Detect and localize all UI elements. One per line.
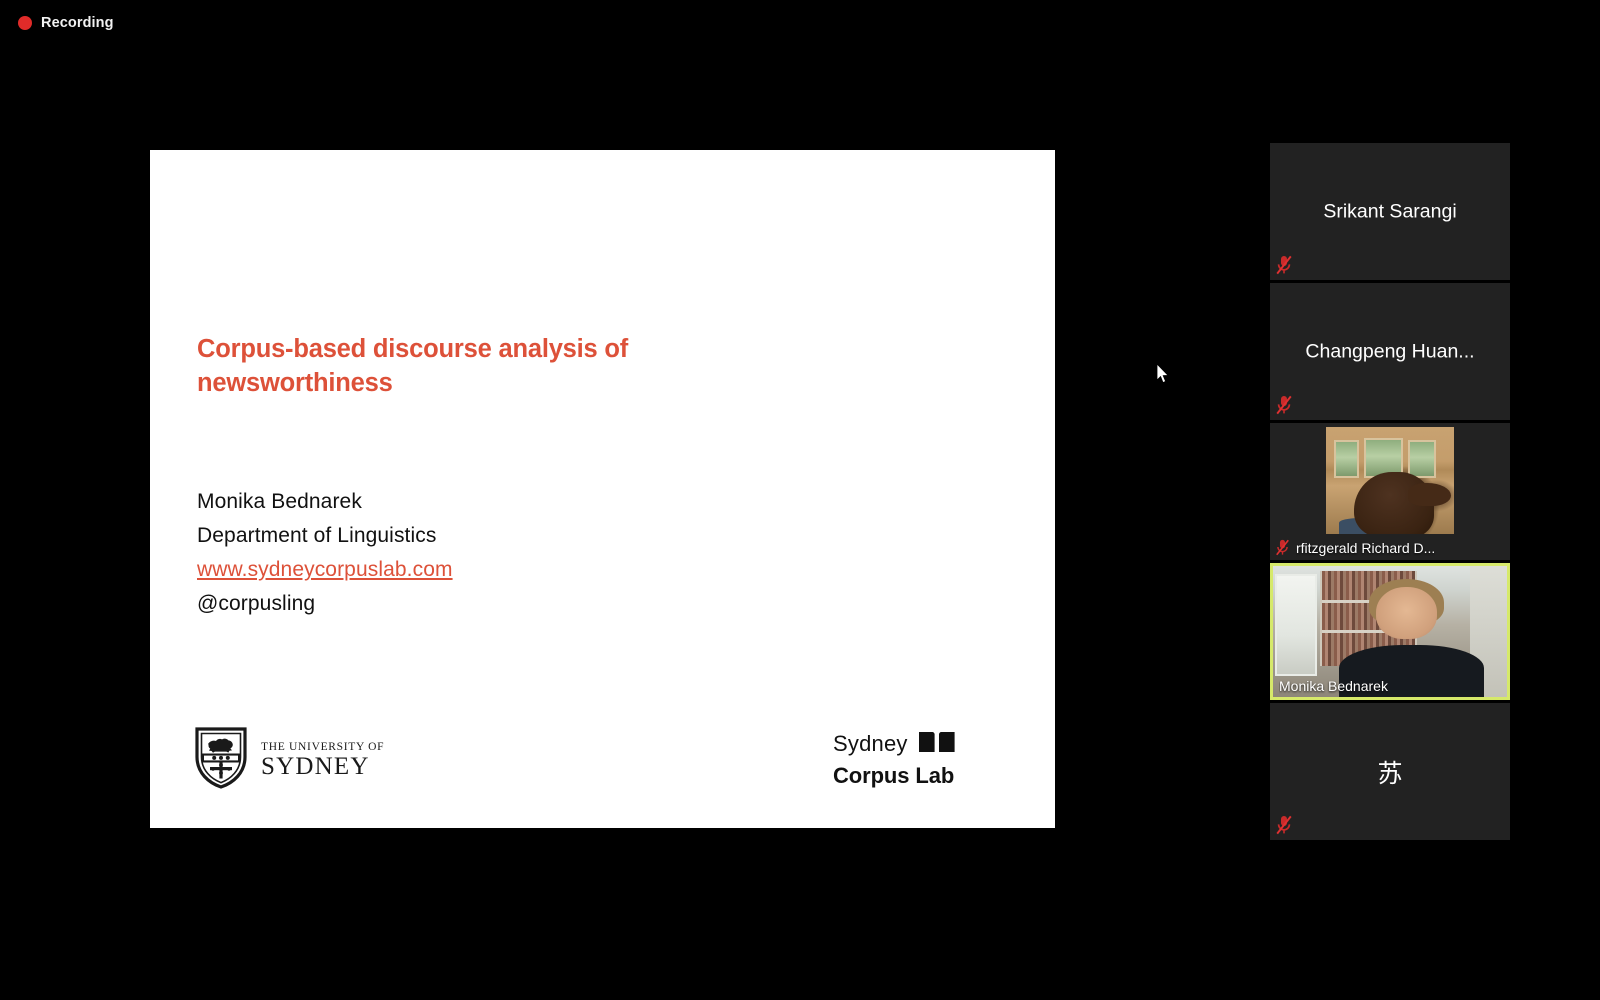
shared-screen-slide[interactable]: Corpus-based discourse analysis of newsw… — [150, 150, 1055, 828]
sydney-corpus-lab-logo: Sydney Corpus Lab — [833, 729, 956, 790]
window-pane — [1334, 440, 1360, 479]
participant-video — [1326, 427, 1454, 534]
byline-website-link[interactable]: www.sydneycorpuslab.com — [197, 553, 717, 587]
participant-footer: Monika Bednarek — [1273, 676, 1507, 697]
participant-name: 苏 — [1270, 754, 1510, 790]
byline-name: Monika Bednarek — [197, 485, 717, 519]
participant-tile[interactable]: Srikant Sarangi — [1270, 143, 1510, 280]
byline-handle: @corpusling — [197, 587, 717, 621]
mic-muted-icon — [1274, 394, 1294, 416]
open-book-icon — [918, 729, 956, 758]
mic-muted-icon — [1274, 814, 1294, 836]
byline-department: Department of Linguistics — [197, 519, 717, 553]
participant-name: rfitzgerald Richard D... — [1296, 540, 1435, 556]
window-pane — [1275, 574, 1317, 676]
university-of-sydney-logo: THE UNIVERSITY OF SYDNEY — [195, 727, 384, 794]
participant-name: Changpeng Huan... — [1270, 340, 1510, 363]
mouse-pointer-icon — [1156, 363, 1170, 384]
slide-byline: Monika Bednarek Department of Linguistic… — [197, 485, 717, 621]
usyd-wordmark-line1: THE UNIVERSITY OF — [261, 741, 384, 754]
usyd-wordmark: THE UNIVERSITY OF SYDNEY — [261, 741, 384, 780]
scl-line1: Sydney — [833, 733, 908, 755]
participant-tile[interactable]: rfitzgerald Richard D... — [1270, 423, 1510, 560]
mic-muted-icon — [1274, 254, 1294, 276]
scl-line2: Corpus Lab — [833, 762, 956, 790]
recording-indicator: Recording — [18, 15, 114, 31]
usyd-wordmark-line2: SYDNEY — [261, 754, 384, 780]
recording-label: Recording — [41, 15, 114, 31]
dog-snout — [1408, 483, 1452, 507]
participant-tile-active-speaker[interactable]: Monika Bednarek — [1270, 563, 1510, 700]
sydney-crest-icon — [195, 727, 247, 794]
recording-dot-icon — [18, 16, 32, 30]
participant-footer: rfitzgerald Richard D... — [1270, 536, 1510, 560]
participant-name: Monika Bednarek — [1279, 678, 1388, 694]
person-head — [1376, 587, 1437, 639]
participant-tile[interactable]: Changpeng Huan... — [1270, 283, 1510, 420]
participant-name: Srikant Sarangi — [1270, 200, 1510, 223]
scl-top-row: Sydney — [833, 729, 956, 758]
mic-muted-icon — [1274, 538, 1291, 557]
participant-filmstrip[interactable]: Srikant Sarangi Changpeng Huan... — [1270, 143, 1510, 843]
window-pane — [1408, 440, 1436, 479]
slide-title: Corpus-based discourse analysis of newsw… — [197, 333, 667, 401]
participant-tile[interactable]: 苏 — [1270, 703, 1510, 840]
